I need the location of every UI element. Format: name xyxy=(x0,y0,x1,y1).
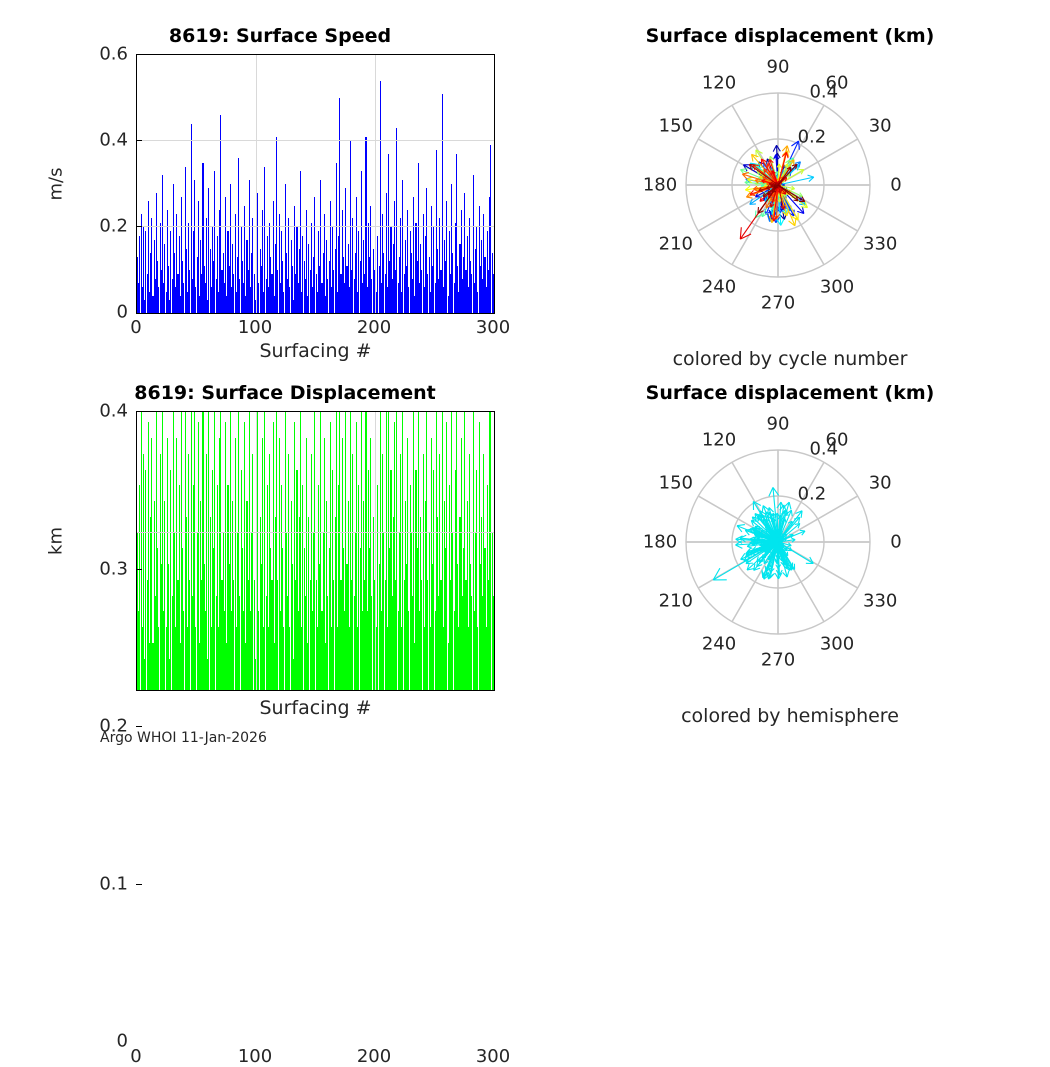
x-tick-label: 100 xyxy=(238,1046,272,1067)
polar-angle-label: 120 xyxy=(702,429,736,450)
polar-radius-label: 0.2 xyxy=(798,126,827,147)
y-tick-mark xyxy=(136,569,142,570)
surface-displacement-axes xyxy=(136,411,495,691)
gridline xyxy=(137,226,494,227)
polar-angle-label: 90 xyxy=(767,57,790,78)
polar-angle-label: 0 xyxy=(890,175,901,196)
polar-angle-label: 240 xyxy=(702,277,736,298)
surface-speed-bars xyxy=(137,55,494,313)
polar-radius-label: 0.2 xyxy=(798,483,827,504)
panel-polar-hemisphere: Surface displacement (km) 03060901201501… xyxy=(530,375,1050,750)
polar-angle-label: 0 xyxy=(890,532,901,553)
polar-radius-label: 0.4 xyxy=(809,82,838,103)
polar-angle-label: 240 xyxy=(702,634,736,655)
gridline xyxy=(375,412,376,690)
polar-angle-label: 120 xyxy=(702,72,736,93)
surface-displacement-x-label: Surfacing # xyxy=(136,697,495,719)
y-tick-label: 0.2 xyxy=(99,216,128,237)
polar-grid xyxy=(530,357,1050,687)
polar-angle-label: 150 xyxy=(659,116,693,137)
y-tick-mark xyxy=(136,884,142,885)
y-tick-mark xyxy=(136,226,142,227)
polar-angle-label: 300 xyxy=(820,277,854,298)
y-tick-label: 0.4 xyxy=(99,401,128,422)
gridline xyxy=(137,532,494,533)
panel-surface-speed: 8619: Surface Speed 00.20.40.6 010020030… xyxy=(0,0,520,375)
x-tick-label: 0 xyxy=(130,1046,141,1067)
bar xyxy=(336,163,337,314)
polar-hemisphere-caption: colored by hemisphere xyxy=(530,705,1050,727)
polar-angle-label: 90 xyxy=(767,414,790,435)
polar-angle-label: 30 xyxy=(869,473,892,494)
polar-angle-label: 30 xyxy=(869,116,892,137)
x-tick-label: 100 xyxy=(238,317,272,338)
gridline xyxy=(256,412,257,690)
y-tick-mark xyxy=(136,726,142,727)
bar xyxy=(493,596,494,691)
polar-angle-label: 210 xyxy=(659,591,693,612)
surface-displacement-y-label: km xyxy=(46,527,67,555)
bar xyxy=(442,94,443,313)
y-tick-label: 0 xyxy=(117,302,128,323)
surface-speed-axes xyxy=(136,54,495,314)
bar xyxy=(380,81,381,313)
polar-angle-label: 270 xyxy=(761,650,795,671)
gridline xyxy=(137,140,494,141)
surface-speed-x-label: Surfacing # xyxy=(136,340,495,362)
y-tick-label: 0.6 xyxy=(99,44,128,65)
y-tick-label: 0.3 xyxy=(99,558,128,579)
y-tick-label: 0.4 xyxy=(99,130,128,151)
y-tick-label: 0 xyxy=(117,1031,128,1052)
gridline xyxy=(375,55,376,313)
bar xyxy=(143,454,144,690)
polar-hemisphere-axes: 03060901201501802102402703003300.20.4 xyxy=(530,357,1050,687)
figure-footer: Argo WHOI 11-Jan-2026 xyxy=(100,730,267,746)
x-tick-label: 0 xyxy=(130,317,141,338)
polar-angle-label: 150 xyxy=(659,473,693,494)
surface-displacement-bars xyxy=(137,412,494,690)
x-tick-label: 200 xyxy=(357,1046,391,1067)
y-tick-label: 0.1 xyxy=(99,873,128,894)
polar-cycle-axes: 03060901201501802102402703003300.20.4 xyxy=(530,0,1050,330)
surface-speed-y-label: m/s xyxy=(46,168,67,201)
bar xyxy=(493,274,494,313)
polar-angle-label: 300 xyxy=(820,634,854,655)
polar-angle-label: 180 xyxy=(643,175,677,196)
bar xyxy=(206,454,207,690)
x-tick-label: 300 xyxy=(476,317,510,338)
polar-radius-label: 0.4 xyxy=(809,439,838,460)
y-tick-mark xyxy=(136,140,142,141)
bar xyxy=(206,218,207,313)
polar-angle-label: 270 xyxy=(761,293,795,314)
polar-angle-label: 180 xyxy=(643,532,677,553)
x-tick-label: 200 xyxy=(357,317,391,338)
polar-angle-label: 210 xyxy=(659,234,693,255)
gridline xyxy=(256,55,257,313)
panel-surface-displacement: 8619: Surface Displacement 00.10.20.30.4… xyxy=(0,375,520,750)
x-tick-label: 300 xyxy=(476,1046,510,1067)
panel-polar-cycle: Surface displacement (km) 03060901201501… xyxy=(530,0,1050,375)
polar-angle-label: 330 xyxy=(863,591,897,612)
polar-grid xyxy=(530,0,1050,330)
figure-canvas: 8619: Surface Speed 00.20.40.6 010020030… xyxy=(0,0,1050,750)
polar-angle-label: 330 xyxy=(863,234,897,255)
